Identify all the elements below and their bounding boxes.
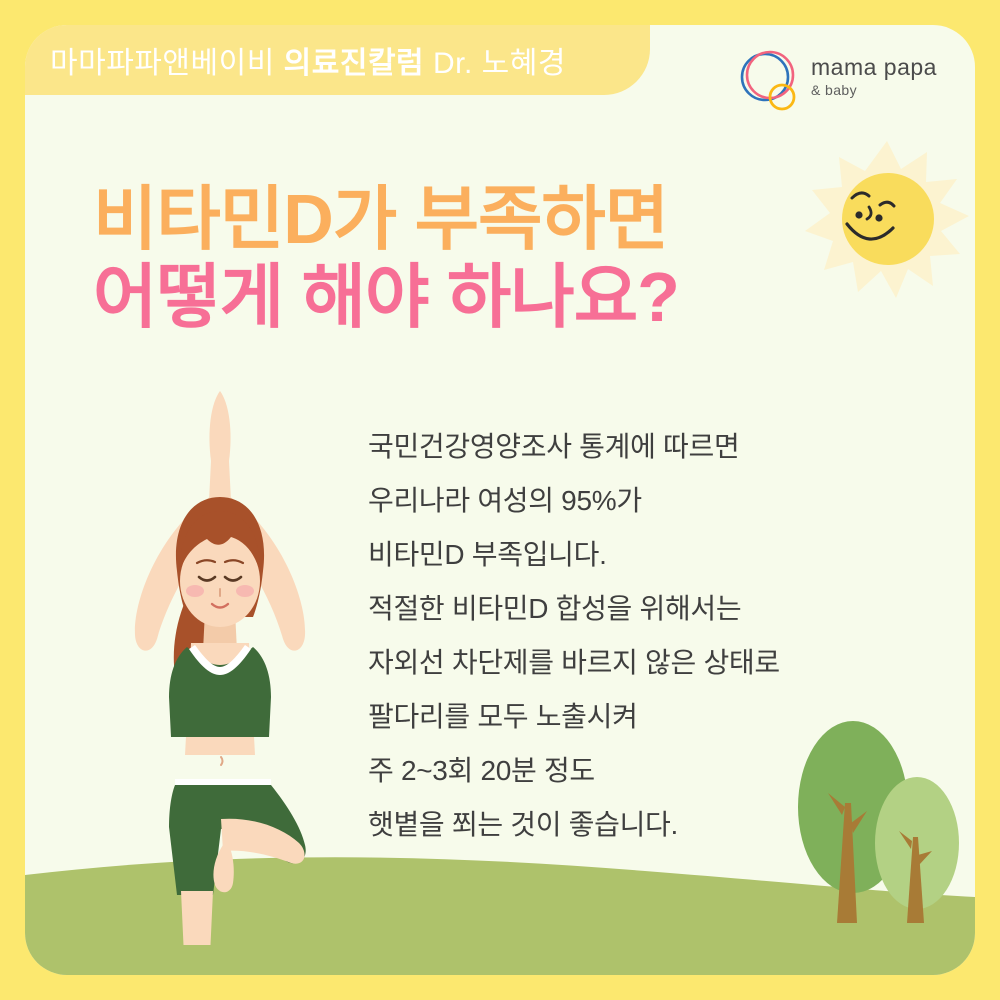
smiling-sun-icon	[800, 135, 975, 310]
navel	[221, 757, 223, 765]
body-copy: 국민건강영양조사 통계에 따르면 우리나라 여성의 95%가 비타민D 부족입니…	[368, 420, 898, 852]
right-cheek	[236, 585, 254, 597]
header-banner: 마마파파앤베이비 의료진칼럼 Dr. 노혜경	[25, 25, 650, 95]
header-banner-text: 마마파파앤베이비 의료진칼럼 Dr. 노혜경	[50, 38, 566, 82]
sun-left-eye	[855, 211, 862, 218]
hands-prayer	[209, 391, 230, 461]
body-line: 주 2~3회 20분 정도	[368, 744, 898, 798]
headline-line-1: 비타민D가 부족하면	[93, 180, 813, 258]
body-line: 비타민D 부족입니다.	[368, 528, 898, 582]
left-cheek	[186, 585, 204, 597]
author-name: Dr. 노혜경	[433, 47, 566, 80]
column-label: 의료진칼럼	[284, 47, 425, 80]
body-line: 자외선 차단제를 바르지 않은 상태로	[368, 636, 898, 690]
logo-circle-blue	[742, 54, 788, 100]
woman-yoga-illustration	[95, 375, 345, 945]
logo-title: mama papa	[811, 55, 937, 80]
wrists	[209, 461, 231, 501]
body-line: 국민건강영양조사 통계에 따르면	[368, 420, 898, 474]
sun-right-eye	[875, 214, 882, 221]
standing-leg	[181, 891, 213, 945]
body-line: 팔다리를 모두 노출시켜	[368, 690, 898, 744]
logo-wordmark: mama papa & baby	[811, 55, 937, 98]
brand-prefix: 마마파파앤베이비	[50, 47, 275, 80]
logo-mark-icon	[735, 49, 801, 115]
sun-face	[842, 173, 934, 265]
body-line: 우리나라 여성의 95%가	[368, 474, 898, 528]
infographic-card: 마마파파앤베이비 의료진칼럼 Dr. 노혜경 mama papa & baby	[25, 25, 975, 975]
body-line: 햇볕을 쬐는 것이 좋습니다.	[368, 798, 898, 852]
logo-subtitle: & baby	[811, 82, 937, 98]
headline: 비타민D가 부족하면 어떻게 해야 하나요?	[93, 180, 813, 337]
body-line: 적절한 비타민D 합성을 위해서는	[368, 582, 898, 636]
headline-line-2: 어떻게 해야 하나요?	[93, 258, 813, 336]
outer-frame: 마마파파앤베이비 의료진칼럼 Dr. 노혜경 mama papa & baby	[0, 0, 1000, 1000]
brand-logo[interactable]: mama papa & baby	[735, 45, 940, 120]
